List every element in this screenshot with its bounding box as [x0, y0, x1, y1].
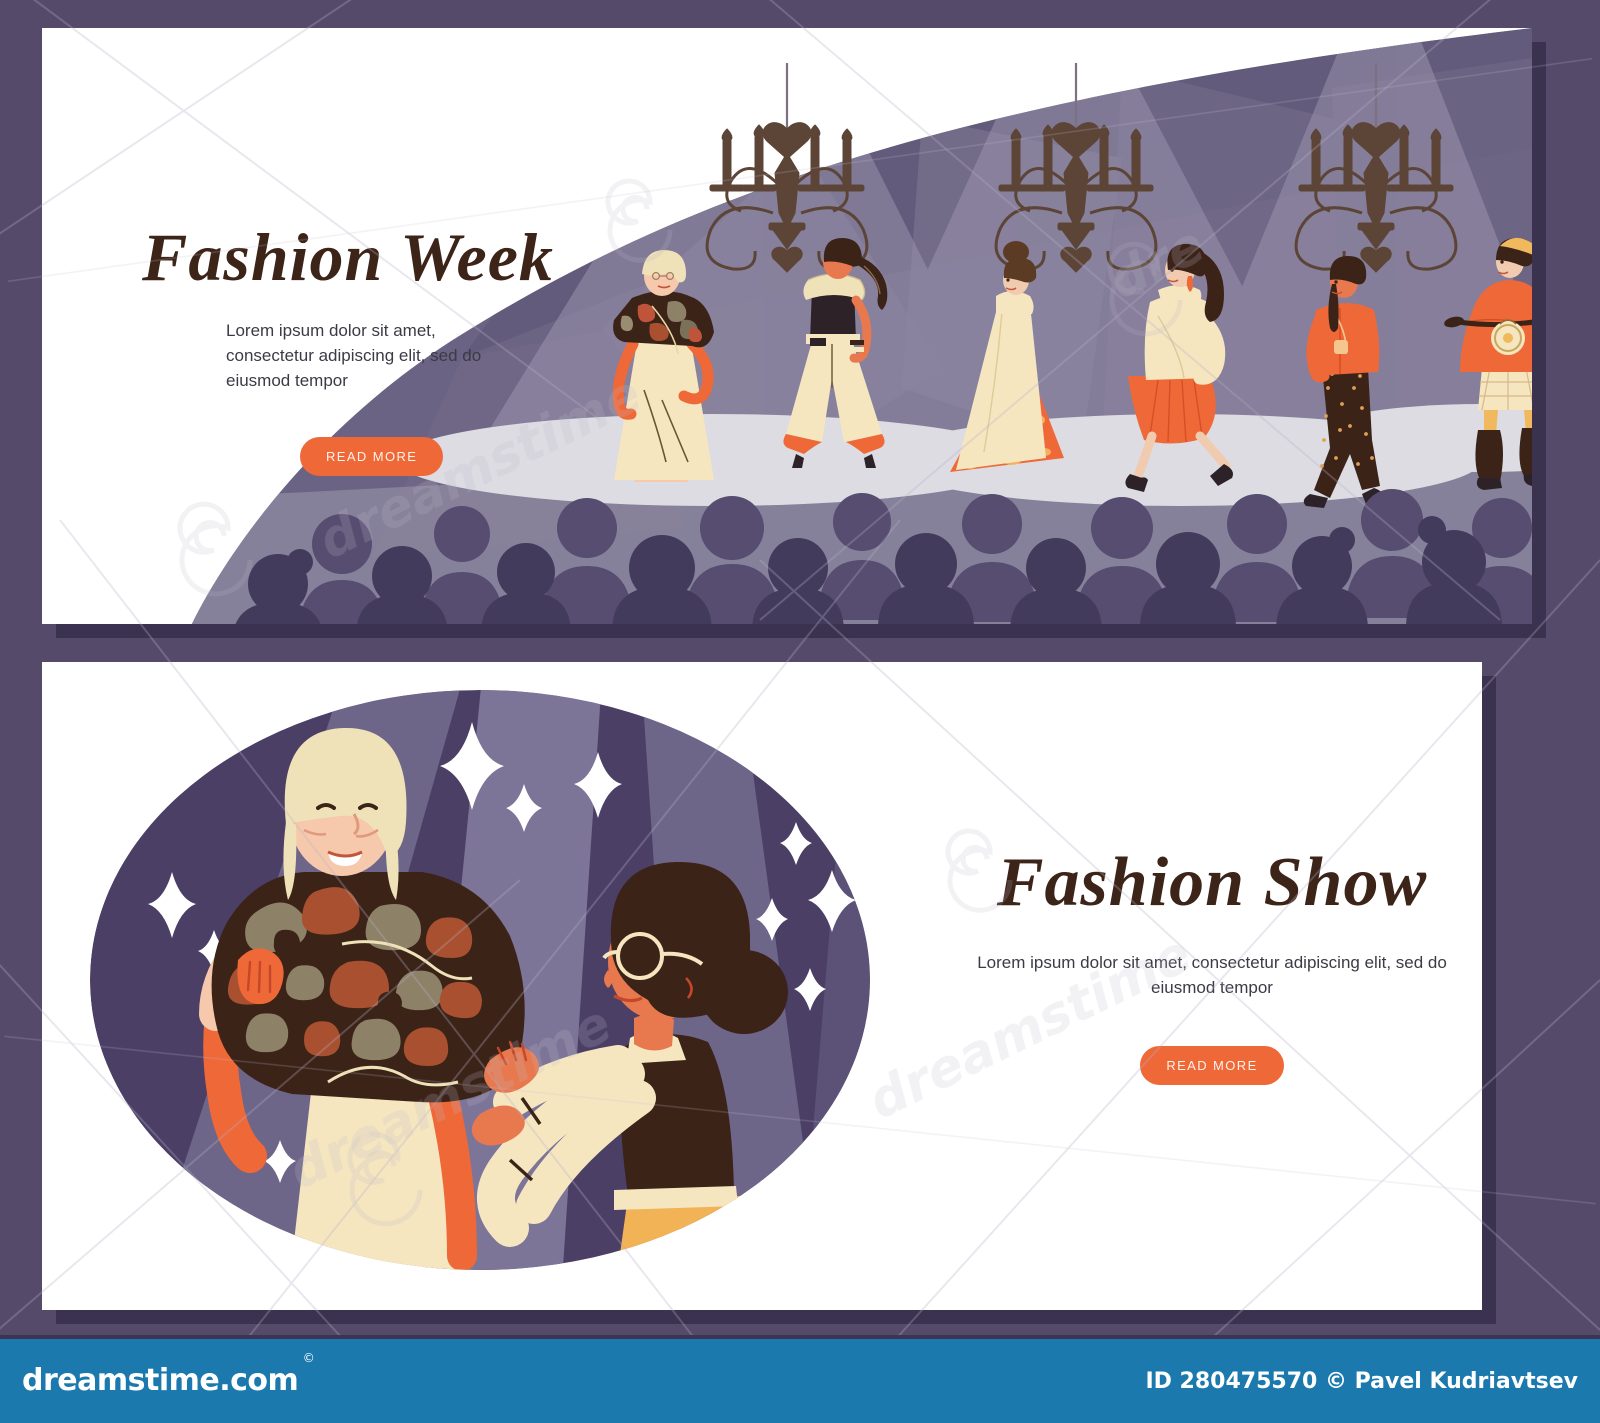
- fashion-week-textblock: Fashion Week Lorem ipsum dolor sit amet,…: [142, 218, 612, 476]
- logo-text: dreamstime.com: [22, 1363, 298, 1398]
- fashion-show-banner: Fashion Show Lorem ipsum dolor sit amet,…: [42, 662, 1482, 1310]
- footer-divider: [0, 1335, 1600, 1339]
- read-more-button[interactable]: READ MORE: [1140, 1046, 1283, 1085]
- page-title: Fashion Week: [142, 218, 612, 296]
- subtitle-text: Lorem ipsum dolor sit amet, consectetur …: [226, 318, 526, 393]
- dreamstime-footer-bar: dreamstime.com © ID 280475570 © Pavel Ku…: [0, 1335, 1600, 1423]
- fashion-week-banner: Fashion Week Lorem ipsum dolor sit amet,…: [42, 28, 1532, 624]
- hair-bun: [700, 950, 788, 1034]
- fashion-show-textblock: Fashion Show Lorem ipsum dolor sit amet,…: [947, 842, 1477, 1085]
- read-more-button[interactable]: READ MORE: [300, 437, 443, 476]
- registered-mark-icon: ©: [303, 1351, 315, 1365]
- page-title: Fashion Show: [947, 842, 1477, 924]
- poster-canvas: Fashion Week Lorem ipsum dolor sit amet,…: [0, 0, 1600, 1423]
- subtitle-text: Lorem ipsum dolor sit amet, consectetur …: [947, 950, 1477, 1000]
- dreamstime-logo: dreamstime.com ©: [22, 1363, 298, 1398]
- image-credit: ID 280475570 © Pavel Kudriavtsev: [1145, 1369, 1578, 1394]
